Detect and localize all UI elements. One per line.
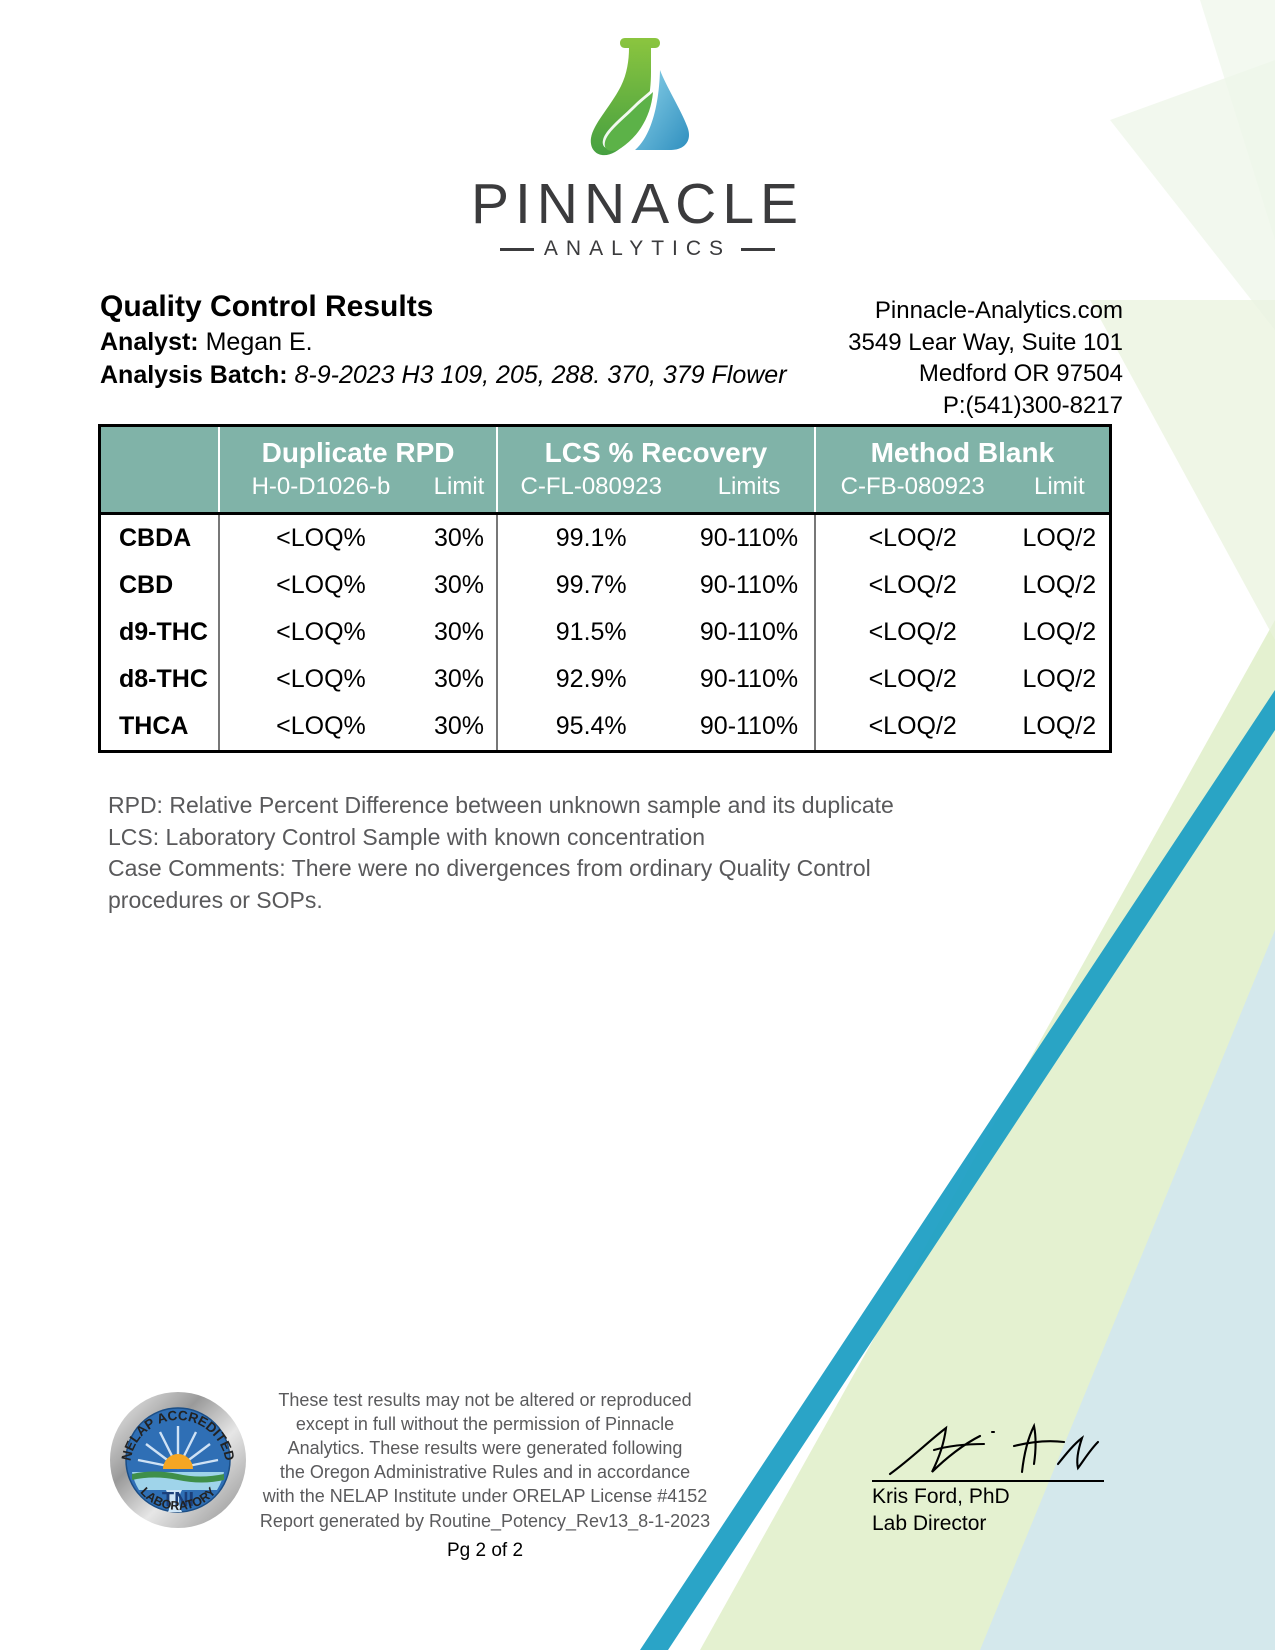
cell-rpd-limit: 30%: [422, 562, 497, 609]
subheader-blank-sample: C-FB-080923: [815, 471, 1010, 514]
tagline-rule-left: [500, 248, 534, 251]
table-group-header-row: Duplicate RPD LCS % Recovery Method Blan…: [101, 427, 1109, 471]
group-header-method-blank: Method Blank: [815, 427, 1109, 471]
cell-blank-limit: LOQ/2: [1010, 514, 1109, 563]
cell-blank-value: <LOQ/2: [815, 562, 1010, 609]
disclaimer-line-6: Report generated by Routine_Potency_Rev1…: [255, 1509, 715, 1533]
table-row: CBD<LOQ%30%99.7%90-110%<LOQ/2LOQ/2: [101, 562, 1109, 609]
cell-rpd-limit: 30%: [422, 609, 497, 656]
cell-rpd-limit: 30%: [422, 656, 497, 703]
signer-name: Kris Ford, PhD: [872, 1485, 1122, 1509]
cell-lcs-limits: 90-110%: [684, 609, 814, 656]
cell-rpd-value: <LOQ%: [219, 703, 422, 750]
tagline-rule-right: [741, 248, 775, 251]
cell-rpd-limit: 30%: [422, 703, 497, 750]
subheader-rpd-sample: H-0-D1026-b: [219, 471, 422, 514]
cell-blank-value: <LOQ/2: [815, 514, 1010, 563]
subheader-rpd-limit: Limit: [422, 471, 497, 514]
page-number: Pg 2 of 2: [255, 1540, 715, 1562]
cell-analyte: d8-THC: [101, 656, 219, 703]
cell-blank-limit: LOQ/2: [1010, 656, 1109, 703]
brand-tagline-row: ANALYTICS: [500, 237, 775, 261]
cell-analyte: THCA: [101, 703, 219, 750]
cell-lcs-value: 92.9%: [497, 656, 684, 703]
quality-control-table: Duplicate RPD LCS % Recovery Method Blan…: [98, 424, 1112, 753]
analyst-label: Analyst:: [100, 328, 199, 356]
table-row: d9-THC<LOQ%30%91.5%90-110%<LOQ/2LOQ/2: [101, 609, 1109, 656]
note-rpd: RPD: Relative Percent Difference between…: [108, 790, 1098, 822]
analysis-batch-row: Analysis Batch: 8-9-2023 H3 109, 205, 28…: [100, 359, 787, 392]
footer-disclaimer: These test results may not be altered or…: [255, 1388, 715, 1533]
lab-website[interactable]: Pinnacle-Analytics.com: [848, 295, 1123, 327]
disclaimer-line-3: Analytics. These results were generated …: [255, 1436, 715, 1460]
analysis-batch-value: 8-9-2023 H3 109, 205, 288. 370, 379 Flow…: [295, 361, 787, 389]
disclaimer-line-2: except in full without the permission of…: [255, 1412, 715, 1436]
group-header-lcs-recovery: LCS % Recovery: [497, 427, 815, 471]
brand-tagline: ANALYTICS: [544, 237, 731, 261]
cell-analyte: d9-THC: [101, 609, 219, 656]
table-row: CBDA<LOQ%30%99.1%90-110%<LOQ/2LOQ/2: [101, 514, 1109, 563]
signature-block: Kris Ford, PhD Lab Director: [872, 1420, 1122, 1536]
disclaimer-line-1: These test results may not be altered or…: [255, 1388, 715, 1412]
cell-rpd-value: <LOQ%: [219, 562, 422, 609]
lab-contact-info: Pinnacle-Analytics.com 3549 Lear Way, Su…: [848, 295, 1123, 422]
cell-blank-limit: LOQ/2: [1010, 562, 1109, 609]
cell-analyte: CBD: [101, 562, 219, 609]
nelap-accreditation-seal-icon: TNI NELAP ACCREDITED LABORATORY: [108, 1390, 248, 1530]
signature-line: [872, 1480, 1104, 1482]
disclaimer-line-5: with the NELAP Institute under ORELAP Li…: [255, 1484, 715, 1508]
cell-rpd-value: <LOQ%: [219, 514, 422, 563]
cell-lcs-limits: 90-110%: [684, 656, 814, 703]
note-lcs: LCS: Laboratory Control Sample with know…: [108, 822, 1098, 854]
cell-blank-value: <LOQ/2: [815, 703, 1010, 750]
cell-rpd-value: <LOQ%: [219, 609, 422, 656]
cell-lcs-value: 99.7%: [497, 562, 684, 609]
lab-address-line1: 3549 Lear Way, Suite 101: [848, 327, 1123, 359]
note-case-comments-line2: procedures or SOPs.: [108, 885, 1098, 917]
signer-title: Lab Director: [872, 1512, 1122, 1536]
brand-logo: PINNACLE ANALYTICS: [0, 34, 1275, 261]
flask-logo-icon: [563, 34, 713, 174]
table-row: THCA<LOQ%30%95.4%90-110%<LOQ/2LOQ/2: [101, 703, 1109, 750]
subheader-analyte: [101, 471, 219, 514]
cell-lcs-value: 95.4%: [497, 703, 684, 750]
cell-blank-limit: LOQ/2: [1010, 609, 1109, 656]
table-body: CBDA<LOQ%30%99.1%90-110%<LOQ/2LOQ/2CBD<L…: [101, 514, 1109, 751]
analyst-row: Analyst: Megan E.: [100, 326, 787, 359]
cell-blank-value: <LOQ/2: [815, 656, 1010, 703]
note-case-comments-line1: Case Comments: There were no divergences…: [108, 853, 1098, 885]
cell-lcs-limits: 90-110%: [684, 514, 814, 563]
subheader-blank-limit: Limit: [1010, 471, 1109, 514]
cell-analyte: CBDA: [101, 514, 219, 563]
qc-report-page: PINNACLE ANALYTICS Quality Control Resul…: [0, 0, 1275, 1650]
table-row: d8-THC<LOQ%30%92.9%90-110%<LOQ/2LOQ/2: [101, 656, 1109, 703]
analyst-value: Megan E.: [206, 328, 313, 356]
subheader-lcs-sample: C-FL-080923: [497, 471, 684, 514]
table-head: Duplicate RPD LCS % Recovery Method Blan…: [101, 427, 1109, 514]
signature-icon: [872, 1420, 1112, 1482]
disclaimer-line-4: the Oregon Administrative Rules and in a…: [255, 1460, 715, 1484]
subheader-lcs-limits: Limits: [684, 471, 814, 514]
lab-phone: P:(541)300-8217: [848, 390, 1123, 422]
group-header-analyte: [101, 427, 219, 471]
cell-rpd-limit: 30%: [422, 514, 497, 563]
table-notes: RPD: Relative Percent Difference between…: [108, 790, 1098, 917]
cell-lcs-value: 91.5%: [497, 609, 684, 656]
cell-blank-limit: LOQ/2: [1010, 703, 1109, 750]
cell-lcs-limits: 90-110%: [684, 703, 814, 750]
lab-address-line2: Medford OR 97504: [848, 358, 1123, 390]
brand-wordmark: PINNACLE: [471, 176, 804, 233]
table-subheader-row: H-0-D1026-b Limit C-FL-080923 Limits C-F…: [101, 471, 1109, 514]
cell-blank-value: <LOQ/2: [815, 609, 1010, 656]
cell-lcs-limits: 90-110%: [684, 562, 814, 609]
analysis-batch-label: Analysis Batch:: [100, 361, 288, 389]
group-header-duplicate-rpd: Duplicate RPD: [219, 427, 497, 471]
cell-rpd-value: <LOQ%: [219, 656, 422, 703]
report-header-left: Quality Control Results Analyst: Megan E…: [100, 289, 787, 392]
page-title: Quality Control Results: [100, 289, 787, 326]
cell-lcs-value: 99.1%: [497, 514, 684, 563]
